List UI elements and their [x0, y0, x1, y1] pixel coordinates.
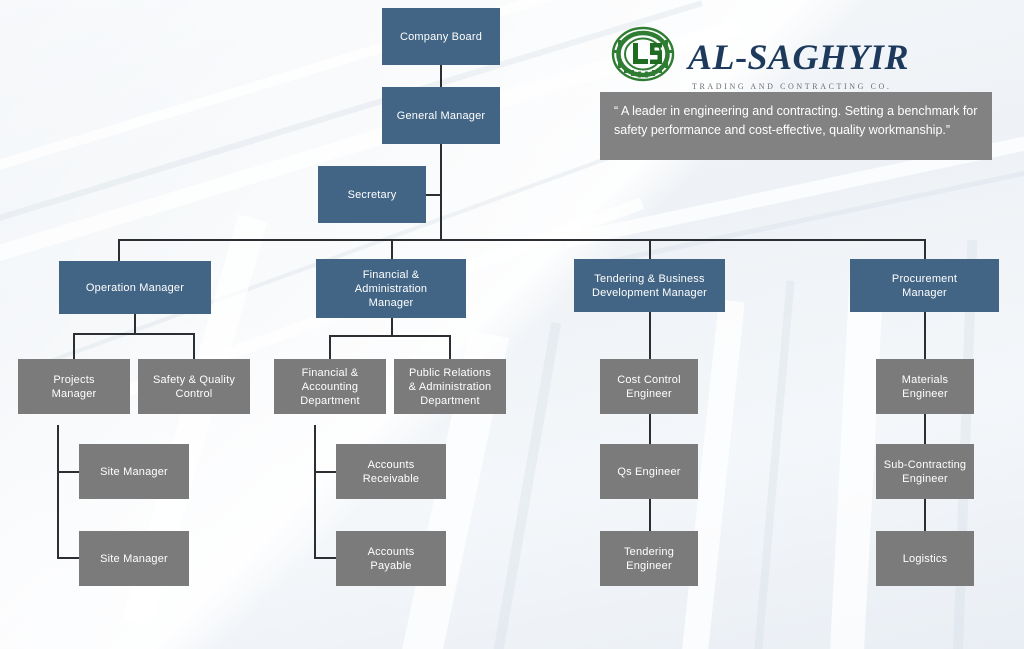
connector-bus-drop-operation: [118, 239, 120, 261]
node-secretary[interactable]: Secretary: [318, 166, 426, 223]
connector-projects-trunk: [57, 425, 59, 559]
node-tendering-business-development-manager[interactable]: Tendering & Business Development Manager: [574, 259, 725, 312]
connector-projects-to-site-1: [57, 471, 79, 473]
node-company-board[interactable]: Company Board: [382, 8, 500, 65]
connector-bus-drop-financial: [391, 239, 393, 261]
node-accounts-receivable[interactable]: Accounts Receivable: [336, 444, 446, 499]
connector-main-bus: [118, 239, 926, 241]
connector-operation-to-safety: [193, 333, 195, 359]
al-saghyir-gear-ls-logo-icon: [610, 24, 676, 84]
connector-operation-split: [73, 333, 195, 335]
connector-bus-drop-tendering: [649, 239, 651, 261]
brand-header: AL-SAGHYIR TRADING AND CONTRACTING CO.: [600, 22, 992, 92]
connector-procurement-to-materials: [924, 312, 926, 359]
node-cost-control-engineer[interactable]: Cost Control Engineer: [600, 359, 698, 414]
background-streak: [753, 280, 794, 649]
connector-secretary-stub: [426, 194, 442, 196]
node-accounts-payable[interactable]: Accounts Payable: [336, 531, 446, 586]
connector-operation-to-projects: [73, 333, 75, 359]
connector-accounting-to-receivable: [314, 471, 336, 473]
connector-financial-stem: [391, 318, 393, 336]
node-public-relations-administration-department[interactable]: Public Relations & Administration Depart…: [394, 359, 506, 414]
connector-materials-to-subcontracting: [924, 414, 926, 444]
node-qs-engineer[interactable]: Qs Engineer: [600, 444, 698, 499]
node-projects-manager[interactable]: Projects Manager: [18, 359, 130, 414]
connector-tendering-to-cost-control: [649, 312, 651, 359]
connector-projects-to-site-2: [57, 557, 79, 559]
node-financial-accounting-department[interactable]: Financial & Accounting Department: [274, 359, 386, 414]
connector-subcontracting-to-logistics: [924, 499, 926, 531]
brand-name-secondary: SAGHYIR: [748, 37, 910, 77]
connector-gm-trunk: [440, 144, 442, 240]
connector-financial-to-accounting: [329, 335, 331, 359]
company-quote: “ A leader in engineering and contractin…: [600, 92, 992, 160]
node-site-manager-2[interactable]: Site Manager: [79, 531, 189, 586]
node-tendering-engineer[interactable]: Tendering Engineer: [600, 531, 698, 586]
brand-name: AL-SAGHYIR: [688, 36, 909, 78]
connector-financial-split: [329, 335, 451, 337]
node-logistics[interactable]: Logistics: [876, 531, 974, 586]
node-financial-administration-manager[interactable]: Financial & Administration Manager: [316, 259, 466, 318]
connector-operation-stem: [134, 314, 136, 334]
connector-financial-to-public-relations: [449, 335, 451, 359]
node-procurement-manager[interactable]: Procurement Manager: [850, 259, 999, 312]
background-streak: [0, 0, 625, 201]
connector-accounting-trunk: [314, 425, 316, 559]
background-streak: [605, 160, 1024, 265]
node-general-manager[interactable]: General Manager: [382, 87, 500, 144]
node-safety-quality-control[interactable]: Safety & Quality Control: [138, 359, 250, 414]
connector-cost-control-to-qs: [649, 414, 651, 444]
node-site-manager-1[interactable]: Site Manager: [79, 444, 189, 499]
node-materials-engineer[interactable]: Materials Engineer: [876, 359, 974, 414]
org-chart-canvas: AL-SAGHYIR TRADING AND CONTRACTING CO. “…: [0, 0, 1024, 649]
brand-name-primary: AL: [688, 37, 735, 77]
node-operation-manager[interactable]: Operation Manager: [59, 261, 211, 314]
brand-tagline: TRADING AND CONTRACTING CO.: [692, 82, 892, 91]
connector-qs-to-tendering-engineer: [649, 499, 651, 531]
brand-name-dash: -: [735, 37, 748, 77]
node-sub-contracting-engineer[interactable]: Sub-Contracting Engineer: [876, 444, 974, 499]
connector-bus-drop-procurement: [924, 239, 926, 261]
connector-board-to-gm: [440, 65, 442, 87]
connector-accounting-to-payable: [314, 557, 336, 559]
